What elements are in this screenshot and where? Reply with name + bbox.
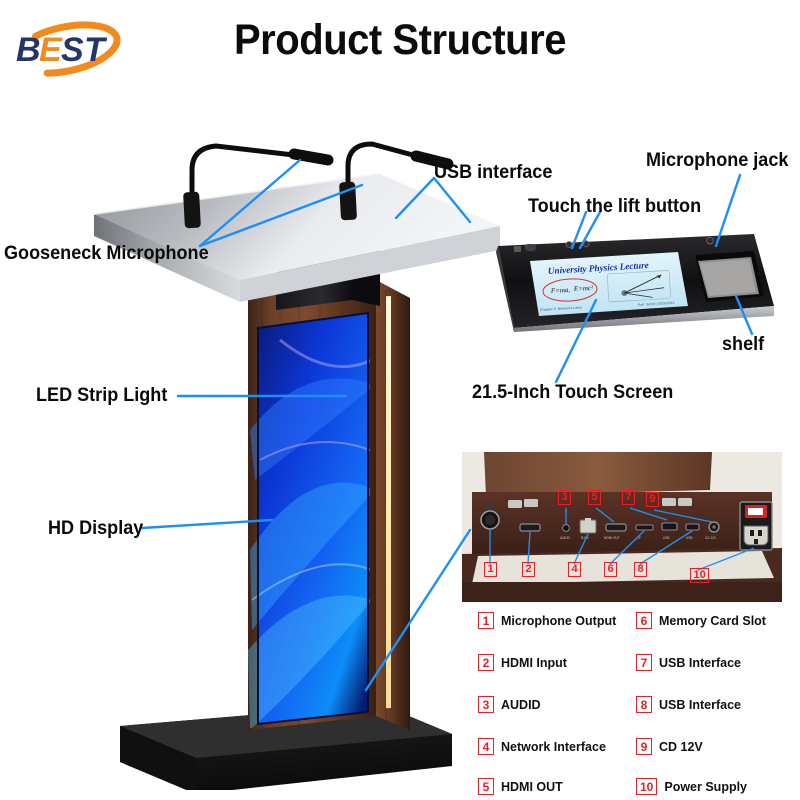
legend-num-5: 5	[478, 778, 494, 795]
legend-num-9: 9	[636, 738, 652, 755]
legend-item-5: 5 HDMI OUT	[478, 778, 563, 795]
legend-item-9: 9 CD 12V	[636, 738, 703, 755]
legend-item-6: 6 Memory Card Slot	[636, 612, 766, 629]
legend-item-10: 10 Power Supply	[636, 778, 747, 795]
port-marker-7: 7	[622, 490, 635, 505]
tablet-formula-1: F=ma,	[550, 286, 571, 295]
podium-illustration	[80, 130, 500, 790]
microphone-jack-icon	[707, 237, 714, 244]
legend-label-3: AUDID	[501, 698, 541, 712]
led-strip	[386, 296, 391, 708]
port-marker-6: 6	[604, 562, 617, 577]
label-usb-interface: USB interface	[434, 162, 552, 184]
page-title: Product Structure	[28, 16, 772, 65]
port-marker-5: 5	[588, 490, 601, 505]
hdmi-input-port	[520, 524, 540, 531]
svg-text:HDMI OUT: HDMI OUT	[604, 536, 620, 540]
legend-num-3: 3	[478, 696, 494, 713]
usb-port-top-right-a	[662, 498, 676, 506]
hdmi-out-port	[606, 524, 626, 531]
tablet-lcd: University Physics Lecture F=ma, E=mc² C…	[530, 252, 688, 316]
legend-label-6: Memory Card Slot	[659, 614, 766, 628]
port-legend: 1 Microphone Output 2 HDMI Input 3 AUDID…	[478, 608, 794, 788]
lift-indicator-icon	[514, 246, 521, 252]
legend-label-5: HDMI OUT	[501, 780, 563, 794]
legend-label-1: Microphone Output	[501, 614, 616, 628]
label-touch-screen: 21.5-Inch Touch Screen	[472, 382, 673, 404]
svg-text:USB: USB	[686, 536, 693, 540]
legend-num-6: 6	[636, 612, 652, 629]
label-touch-lift-button: Touch the lift button	[528, 196, 701, 218]
tablet-formula-2: E=mc²	[573, 284, 595, 293]
port-panel-photo: AUDIO RJ45 HDMI OUT TF USB USB CD 12V	[462, 452, 782, 602]
legend-label-9: CD 12V	[659, 740, 703, 754]
legend-label-8: USB Interface	[659, 698, 741, 712]
port-marker-9: 9	[646, 492, 659, 507]
label-led-strip-light: LED Strip Light	[36, 385, 167, 407]
port-marker-2: 2	[522, 562, 535, 577]
lift-button-up-icon	[566, 242, 572, 248]
legend-num-4: 4	[478, 738, 494, 755]
legend-num-7: 7	[636, 654, 652, 671]
desktop-surface	[94, 174, 500, 302]
usb-port-top-left-b	[524, 499, 538, 507]
usb-port-top-left-a	[508, 500, 522, 508]
hd-display-screen	[248, 313, 375, 730]
tablet-shelf	[695, 251, 764, 302]
audio-port	[563, 525, 570, 532]
legend-num-1: 1	[478, 612, 494, 629]
usb-port-top-right-b	[678, 498, 692, 506]
legend-item-4: 4 Network Interface	[478, 738, 606, 755]
legend-label-10: Power Supply	[664, 780, 747, 794]
port-marker-8: 8	[634, 562, 647, 577]
legend-item-2: 2 HDMI Input	[478, 654, 567, 671]
port-marker-1: 1	[484, 562, 497, 577]
product-structure-diagram: B E S T Product Structure	[0, 0, 800, 800]
svg-text:USB: USB	[663, 536, 670, 540]
legend-item-7: 7 USB Interface	[636, 654, 741, 671]
legend-num-8: 8	[636, 696, 652, 713]
label-hd-display: HD Display	[48, 518, 143, 540]
usb-interface-port-7	[662, 523, 677, 530]
port-marker-3: 3	[558, 490, 571, 505]
svg-text:AUDIO: AUDIO	[560, 536, 571, 540]
legend-label-4: Network Interface	[501, 740, 606, 754]
label-shelf: shelf	[722, 334, 764, 356]
label-microphone-jack: Microphone jack	[646, 150, 788, 172]
lift-button-down-icon	[583, 241, 589, 247]
label-gooseneck-microphone: Gooseneck Microphone	[4, 243, 209, 265]
legend-label-7: USB Interface	[659, 656, 741, 670]
port-marker-10: 10	[690, 568, 709, 583]
legend-item-8: 8 USB Interface	[636, 696, 741, 713]
legend-item-1: 1 Microphone Output	[478, 612, 616, 629]
legend-item-3: 3 AUDID	[478, 696, 541, 713]
usb-interface-port-8	[686, 524, 699, 530]
legend-num-10: 10	[636, 778, 657, 795]
memory-card-slot	[636, 525, 653, 530]
sensor-strip-icon	[525, 244, 536, 251]
legend-label-2: HDMI Input	[501, 656, 567, 670]
svg-text:CD 12V: CD 12V	[705, 536, 717, 540]
legend-num-2: 2	[478, 654, 494, 671]
touchscreen-detail-photo: University Physics Lecture F=ma, E=mc² C…	[492, 232, 778, 332]
port-marker-4: 4	[568, 562, 581, 577]
